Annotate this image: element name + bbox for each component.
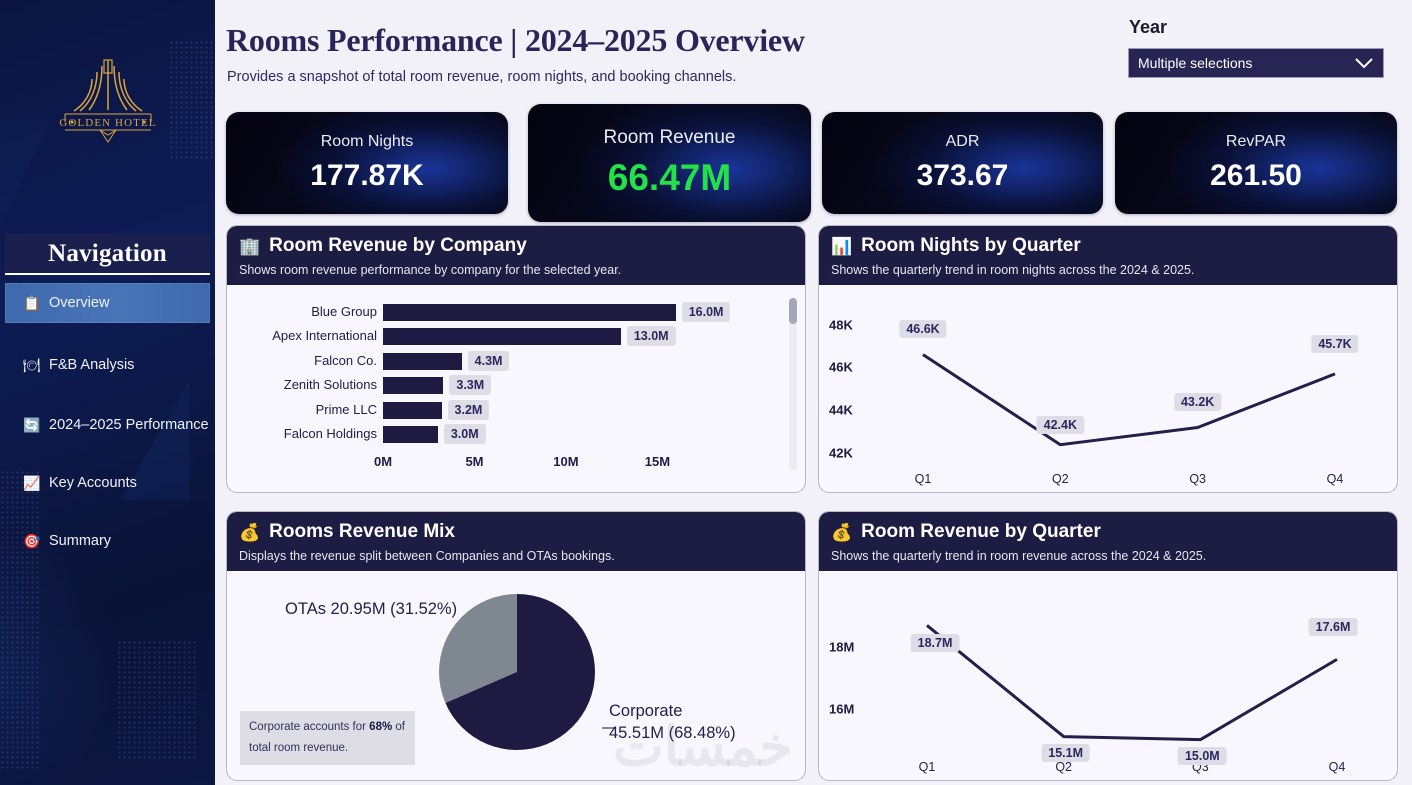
line-data-label: 17.6M: [1309, 618, 1358, 636]
line-y-tick-label: 48K: [829, 317, 853, 332]
sidebar: GOLDEN HOTEL Navigation 📋 Overview 🍽 F&B…: [0, 0, 215, 785]
line-data-label: 42.4K: [1037, 416, 1084, 434]
panel-title: Room Nights by Quarter: [861, 235, 1081, 257]
sidebar-item-fb-analysis[interactable]: 🍽 F&B Analysis: [5, 345, 210, 385]
panel-room-nights-by-quarter: 📊 Room Nights by Quarter Shows the quart…: [818, 225, 1398, 493]
food-icon: 🍽: [23, 358, 39, 372]
refresh-icon: 🔄: [23, 418, 39, 432]
bar-chart-scrollbar[interactable]: [789, 298, 797, 470]
bar-category-label: Blue Group: [233, 302, 383, 322]
kpi-label: RevPAR: [1226, 133, 1286, 151]
bar-chart-icon: 📊: [831, 238, 852, 255]
panel-title: Room Revenue by Company: [269, 235, 527, 257]
sidebar-item-label: Overview: [49, 295, 109, 311]
bar-rect[interactable]: [383, 304, 676, 321]
kpi-card-adr[interactable]: ADR 373.67: [822, 112, 1103, 214]
panel-subtitle: Shows the quarterly trend in room nights…: [831, 263, 1385, 277]
panel-subtitle: Displays the revenue split between Compa…: [239, 549, 793, 563]
bar-value-label: 3.3M: [449, 375, 491, 395]
line-y-tick-label: 16M: [829, 701, 854, 716]
line-x-tick-label: Q1: [915, 472, 932, 486]
panel-room-revenue-by-quarter: 💰 Room Revenue by Quarter Shows the quar…: [818, 511, 1398, 781]
brand-logo: GOLDEN HOTEL: [0, 52, 215, 144]
bar-category-label: Falcon Holdings: [233, 424, 383, 444]
bar-value-label: 4.3M: [468, 351, 510, 371]
sidebar-item-key-accounts[interactable]: 📈 Key Accounts: [5, 463, 210, 503]
panel-title-row: 📊 Room Nights by Quarter: [831, 235, 1385, 257]
kpi-card-revpar[interactable]: RevPAR 261.50: [1115, 112, 1397, 214]
brand-name-text: GOLDEN HOTEL: [59, 117, 156, 129]
bar-rect[interactable]: [383, 328, 621, 345]
note-text-pre: Corporate accounts for: [249, 721, 369, 733]
clipboard-icon: 📋: [23, 296, 39, 310]
office-building-icon: 🏢: [239, 238, 260, 255]
scrollbar-thumb[interactable]: [789, 298, 797, 324]
kpi-label: ADR: [946, 133, 980, 151]
pie-label-corporate-value: 45.51M (68.48%): [609, 722, 736, 744]
panel-rooms-revenue-mix: 💰 Rooms Revenue Mix Displays the revenue…: [226, 511, 806, 781]
bar-x-tick-label: 5M: [465, 454, 483, 469]
line-data-label: 46.6K: [899, 320, 946, 338]
line-data-label: 15.0M: [1178, 747, 1227, 765]
main-content: Rooms Performance | 2024–2025 Overview P…: [215, 0, 1412, 785]
line-y-tick-label: 44K: [829, 403, 853, 418]
panel-title: Rooms Revenue Mix: [269, 521, 455, 543]
bar-row[interactable]: Falcon Holdings3.0M: [227, 424, 806, 444]
note-text-bold: 68%: [369, 721, 392, 733]
navigation-header: Navigation: [5, 234, 210, 275]
line-data-label: 15.1M: [1041, 744, 1090, 762]
money-bag-icon: 💰: [831, 524, 852, 541]
sidebar-item-performance[interactable]: 🔄 2024–2025 Performance: [5, 405, 210, 445]
year-slicer-value: Multiple selections: [1138, 55, 1354, 71]
bar-category-label: Prime LLC: [233, 400, 383, 420]
line-chart-room-nights-by-quarter[interactable]: 42K44K46K48KQ1Q2Q3Q446.6K42.4K43.2K45.7K: [819, 294, 1398, 493]
revenue-mix-note: Corporate accounts for 68% of total room…: [240, 711, 415, 765]
dot-pattern-decoration: [0, 470, 40, 770]
line-x-tick-label: Q2: [1052, 472, 1069, 486]
panel-room-revenue-by-company: 🏢 Room Revenue by Company Shows room rev…: [226, 225, 806, 493]
panel-subtitle: Shows room revenue performance by compan…: [239, 263, 793, 277]
bar-row[interactable]: Prime LLC3.2M: [227, 400, 806, 420]
bar-category-label: Apex International: [233, 326, 383, 346]
panel-title: Room Revenue by Quarter: [861, 521, 1101, 543]
bar-value-label: 13.0M: [627, 326, 676, 346]
pie-label-corporate: Corporate 45.51M (68.48%): [609, 700, 736, 745]
panel-header: 📊 Room Nights by Quarter Shows the quart…: [819, 226, 1397, 285]
year-slicer-label: Year: [1129, 17, 1167, 38]
sidebar-item-label: 2024–2025 Performance: [49, 417, 209, 433]
bar-category-label: Falcon Co.: [233, 351, 383, 371]
dot-pattern-decoration: [117, 640, 197, 760]
line-x-tick-label: Q1: [919, 760, 936, 774]
sidebar-item-summary[interactable]: 🎯 Summary: [5, 521, 210, 561]
bar-rect[interactable]: [383, 377, 443, 394]
bar-x-tick-label: 10M: [553, 454, 578, 469]
bar-value-label: 16.0M: [682, 302, 731, 322]
pie-label-corporate-name: Corporate: [609, 700, 736, 722]
line-x-tick-label: Q4: [1329, 760, 1346, 774]
page-subtitle: Provides a snapshot of total room revenu…: [227, 69, 736, 85]
sidebar-item-overview[interactable]: 📋 Overview: [5, 283, 210, 323]
panel-header: 🏢 Room Revenue by Company Shows room rev…: [227, 226, 805, 285]
sidebar-item-label: Summary: [49, 533, 111, 549]
line-chart-room-revenue-by-quarter[interactable]: 16M18MQ1Q2Q3Q418.7M15.1M15.0M17.6M: [819, 580, 1398, 780]
line-data-label: 18.7M: [911, 634, 960, 652]
panel-title-row: 💰 Room Revenue by Quarter: [831, 521, 1385, 543]
kpi-value: 66.47M: [608, 157, 731, 199]
chevron-down-icon: [1354, 57, 1374, 69]
sidebar-item-label: F&B Analysis: [49, 357, 134, 373]
panel-subtitle: Shows the quarterly trend in room revenu…: [831, 549, 1385, 563]
line-y-tick-label: 46K: [829, 360, 853, 375]
pie-slices[interactable]: [439, 594, 595, 750]
line-series: [819, 580, 1398, 780]
line-x-tick-label: Q3: [1189, 472, 1206, 486]
page-title: Rooms Performance | 2024–2025 Overview: [226, 22, 805, 59]
kpi-label: Room Revenue: [603, 127, 735, 149]
bar-value-label: 3.0M: [444, 424, 486, 444]
bar-rect[interactable]: [383, 426, 438, 443]
bar-x-tick-label: 15M: [645, 454, 670, 469]
bar-row[interactable]: Apex International13.0M: [227, 326, 806, 346]
year-slicer: Year Multiple selections: [1115, 0, 1400, 92]
panel-title-row: 💰 Rooms Revenue Mix: [239, 521, 793, 543]
bar-value-label: 3.2M: [448, 400, 490, 420]
line-data-label: 43.2K: [1174, 393, 1221, 411]
bar-x-tick-label: 0M: [374, 454, 392, 469]
line-y-tick-label: 42K: [829, 446, 853, 461]
line-x-tick-label: Q2: [1055, 760, 1072, 774]
bar-rect[interactable]: [383, 402, 442, 419]
kpi-card-room-nights[interactable]: Room Nights 177.87K: [226, 112, 508, 214]
pie-label-otas: OTAs 20.95M (31.52%): [285, 600, 457, 619]
bar-chart-room-revenue-by-company[interactable]: Blue Group16.0MApex International13.0MFa…: [227, 294, 806, 492]
bar-rect[interactable]: [383, 353, 462, 370]
golden-hotel-logo-icon: GOLDEN HOTEL: [43, 52, 173, 144]
navigation-header-label: Navigation: [48, 240, 167, 268]
bar-row[interactable]: Blue Group16.0M: [227, 302, 806, 322]
target-icon: 🎯: [23, 534, 39, 548]
panel-title-row: 🏢 Room Revenue by Company: [239, 235, 793, 257]
year-slicer-dropdown[interactable]: Multiple selections: [1128, 48, 1384, 78]
kpi-card-room-revenue[interactable]: Room Revenue 66.47M: [528, 104, 811, 222]
bar-row[interactable]: Zenith Solutions3.3M: [227, 375, 806, 395]
kpi-value: 177.87K: [310, 159, 423, 193]
kpi-value: 373.67: [917, 159, 1009, 193]
kpi-label: Room Nights: [321, 133, 413, 151]
bar-category-label: Zenith Solutions: [233, 375, 383, 395]
line-y-tick-label: 18M: [829, 640, 854, 655]
kpi-value: 261.50: [1210, 159, 1302, 193]
panel-header: 💰 Room Revenue by Quarter Shows the quar…: [819, 512, 1397, 571]
money-bag-icon: 💰: [239, 524, 260, 541]
bar-row[interactable]: Falcon Co.4.3M: [227, 351, 806, 371]
pie-chart-rooms-revenue-mix[interactable]: OTAs 20.95M (31.52%) Corporate 45.51M (6…: [227, 578, 806, 781]
line-x-tick-label: Q4: [1327, 472, 1344, 486]
line-data-label: 45.7K: [1311, 335, 1358, 353]
chart-icon: 📈: [23, 476, 39, 490]
bar-chart-x-axis: 0M5M10M15M: [227, 454, 806, 474]
panel-header: 💰 Rooms Revenue Mix Displays the revenue…: [227, 512, 805, 571]
sidebar-item-label: Key Accounts: [49, 475, 137, 491]
